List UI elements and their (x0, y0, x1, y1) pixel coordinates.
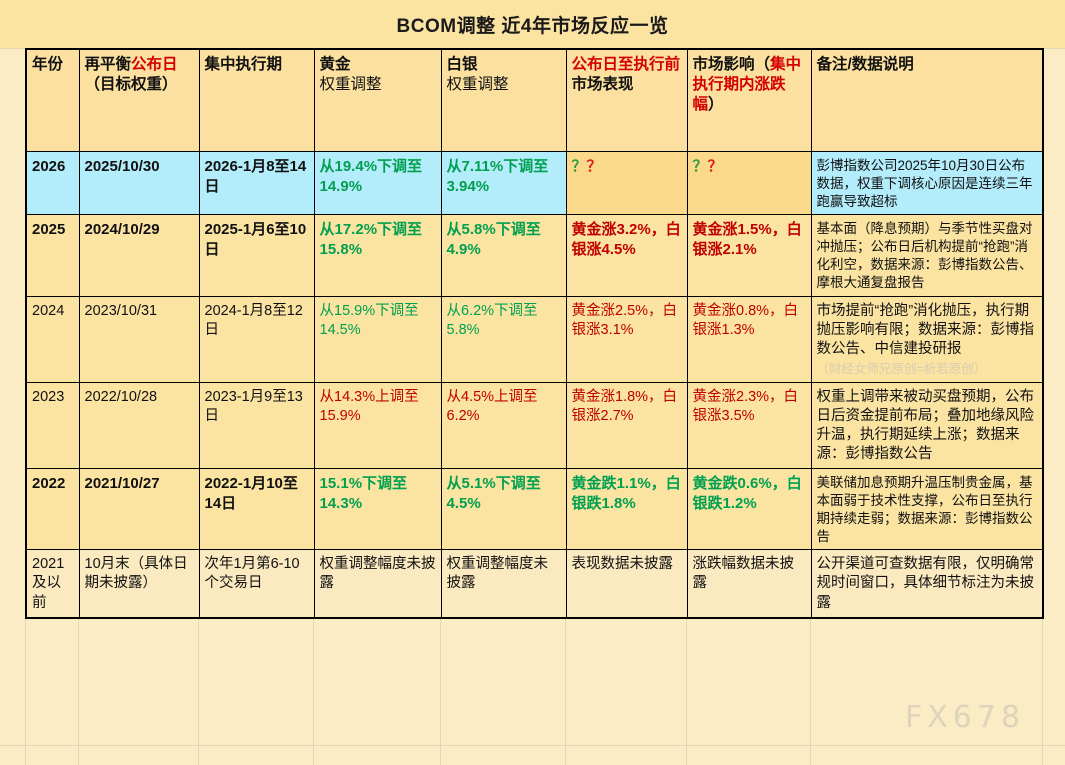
header-text: 公布日至执行前 (572, 56, 681, 73)
cell-remarks: 基本面（降息预期）与季节性买盘对冲抛压；公布日后机构提前“抢跑”消化利空，数据来… (811, 215, 1043, 296)
table-row[interactable]: 20242023/10/312024-1月8至12日从15.9%下调至14.5%… (26, 296, 1043, 382)
header-text: 白银 (447, 56, 478, 73)
cell-gold-weight: 从15.9%下调至14.5% (314, 296, 441, 382)
remarks-text: 市场提前“抢跑”消化抛压，执行期抛压影响有限；数据来源：彭博指数公告、中信建投研… (817, 303, 1035, 357)
cell-market-impact: 涨跌幅数据未披露 (687, 550, 811, 618)
value-text: 从14.3%上调至15.9% (320, 389, 419, 424)
value-text: 从4.5%上调至6.2% (447, 389, 538, 424)
cell-pre-exec-performance: 黄金涨1.8%，白银涨2.7% (566, 382, 687, 469)
header-text: 年份 (32, 56, 63, 73)
question-mark-red: ？ (587, 158, 602, 175)
header-text: 市场表现 (572, 76, 634, 93)
value-text: 从17.2%下调至15.8% (320, 221, 423, 258)
header-text: 市场影响（ (693, 56, 771, 73)
cell-silver-weight: 权重调整幅度未披露 (441, 550, 566, 618)
column-header-announce-date[interactable]: 再平衡公布日（目标权重） (79, 49, 199, 152)
value-text: 从19.4%下调至14.9% (320, 158, 423, 195)
value-text: 黄金涨1.5%，白银涨2.1% (693, 221, 802, 258)
table-row[interactable]: 2021及以前10月末（具体日期未披露）次年1月第6-10个交易日权重调整幅度未… (26, 550, 1043, 618)
cell-execution-window: 2025-1月6至10日 (199, 215, 314, 296)
cell-market-impact: 黄金涨2.3%，白银涨3.5% (687, 382, 811, 469)
cell-year: 2026 (26, 152, 79, 215)
cell-market-impact: 黄金跌0.6%，白银跌1.2% (687, 469, 811, 550)
value-text: 从7.11%下调至3.94% (447, 158, 549, 195)
cell-silver-weight: 从7.11%下调至3.94% (441, 152, 566, 215)
question-mark-red: ？ (708, 158, 723, 175)
cell-silver-weight: 从5.1%下调至4.5% (441, 469, 566, 550)
table-row[interactable]: 20232022/10/282023-1月9至13日从14.3%上调至15.9%… (26, 382, 1043, 469)
cell-year: 2025 (26, 215, 79, 296)
cell-execution-window: 2024-1月8至12日 (199, 296, 314, 382)
cell-announce-date: 2025/10/30 (79, 152, 199, 215)
cell-pre-exec-performance: 黄金涨3.2%，白银涨4.5% (566, 215, 687, 296)
cell-pre-exec-performance: 黄金跌1.1%，白银跌1.8% (566, 469, 687, 550)
column-header-execution-window[interactable]: 集中执行期 (199, 49, 314, 152)
market-reaction-table: 年份再平衡公布日（目标权重）集中执行期黄金权重调整白银权重调整公布日至执行前市场… (25, 48, 1044, 619)
remarks-text: 公开渠道可查数据有限，仅明确常规时间窗口，具体细节标注为未披露 (817, 556, 1035, 610)
header-text: ） (708, 96, 724, 113)
value-text: 从6.2%下调至5.8% (447, 303, 538, 338)
cell-gold-weight: 从14.3%上调至15.9% (314, 382, 441, 469)
cell-gold-weight: 权重调整幅度未披露 (314, 550, 441, 618)
cell-announce-date: 2024/10/29 (79, 215, 199, 296)
cell-announce-date: 2023/10/31 (79, 296, 199, 382)
column-header-remarks[interactable]: 备注/数据说明 (811, 49, 1043, 152)
cell-year: 2022 (26, 469, 79, 550)
value-text: 黄金跌0.6%，白银跌1.2% (693, 475, 802, 512)
cell-execution-window: 2023-1月9至13日 (199, 382, 314, 469)
cell-year: 2024 (26, 296, 79, 382)
cell-remarks: 美联储加息预期升温压制贵金属，基本面弱于技术性支撑，公布日至执行期持续走弱；数据… (811, 469, 1043, 550)
value-text: 黄金涨2.5%，白银涨3.1% (572, 303, 678, 338)
cell-silver-weight: 从4.5%上调至6.2% (441, 382, 566, 469)
header-text: 备注/数据说明 (817, 56, 914, 73)
cell-market-impact: ？？ (687, 152, 811, 215)
header-text: 权重调整 (447, 76, 509, 93)
cell-execution-window: 次年1月第6-10个交易日 (199, 550, 314, 618)
cell-gold-weight: 从19.4%下调至14.9% (314, 152, 441, 215)
cell-pre-exec-performance: 黄金涨2.5%，白银涨3.1% (566, 296, 687, 382)
cell-silver-weight: 从6.2%下调至5.8% (441, 296, 566, 382)
column-header-pre-exec-perf[interactable]: 公布日至执行前市场表现 (566, 49, 687, 152)
value-text: 从5.8%下调至4.9% (447, 221, 541, 258)
column-header-market-impact[interactable]: 市场影响（集中执行期内涨跌幅） (687, 49, 811, 152)
value-text: 黄金涨3.2%，白银涨4.5% (572, 221, 681, 258)
remarks-text: 权重上调带来被动买盘预期，公布日后资金提前布局；叠加地缘风险升温，执行期延续上涨… (817, 389, 1035, 462)
header-text: 权重调整 (320, 76, 382, 93)
cell-announce-date: 2022/10/28 (79, 382, 199, 469)
cell-market-impact: 黄金涨0.8%，白银涨1.3% (687, 296, 811, 382)
value-text: 15.1%下调至14.3% (320, 475, 408, 512)
table-header-row: 年份再平衡公布日（目标权重）集中执行期黄金权重调整白银权重调整公布日至执行前市场… (26, 49, 1043, 152)
value-text: 黄金涨1.8%，白银涨2.7% (572, 389, 678, 424)
cell-pre-exec-performance: ？？ (566, 152, 687, 215)
page-title: BCOM调整 近4年市场反应一览 (397, 11, 669, 38)
cell-remarks: 市场提前“抢跑”消化抛压，执行期抛压影响有限；数据来源：彭博指数公告、中信建投研… (811, 296, 1043, 382)
remarks-text: 彭博指数公司2025年10月30日公布数据，权重下调核心原因是连续三年跑赢导致超… (817, 158, 1033, 209)
value-text: 从5.1%下调至4.5% (447, 475, 541, 512)
cell-year: 2023 (26, 382, 79, 469)
value-text: 从15.9%下调至14.5% (320, 303, 419, 338)
column-header-silver-weight[interactable]: 白银权重调整 (441, 49, 566, 152)
cell-gold-weight: 从17.2%下调至15.8% (314, 215, 441, 296)
cell-announce-date: 2021/10/27 (79, 469, 199, 550)
header-text: 集中执行期 (205, 56, 283, 73)
cell-execution-window: 2026-1月8至14日 (199, 152, 314, 215)
cell-execution-window: 2022-1月10至14日 (199, 469, 314, 550)
cell-announce-date: 10月末（具体日期未披露） (79, 550, 199, 618)
value-text: 黄金涨2.3%，白银涨3.5% (693, 389, 799, 424)
table-row[interactable]: 20222021/10/272022-1月10至14日15.1%下调至14.3%… (26, 469, 1043, 550)
market-reaction-table-wrap: 年份再平衡公布日（目标权重）集中执行期黄金权重调整白银权重调整公布日至执行前市场… (25, 48, 1044, 619)
value-text: 黄金跌1.1%，白银跌1.8% (572, 475, 681, 512)
cell-pre-exec-performance: 表现数据未披露 (566, 550, 687, 618)
table-row[interactable]: 20252024/10/292025-1月6至10日从17.2%下调至15.8%… (26, 215, 1043, 296)
header-text: （目标权重） (85, 76, 178, 93)
question-mark-green: ？ (693, 158, 708, 175)
cell-year: 2021及以前 (26, 550, 79, 618)
column-header-year[interactable]: 年份 (26, 49, 79, 152)
cell-gold-weight: 15.1%下调至14.3% (314, 469, 441, 550)
table-body: 20262025/10/302026-1月8至14日从19.4%下调至14.9%… (26, 152, 1043, 618)
inline-watermark: （财经女师兄原创=析若原创） (817, 361, 1039, 378)
cell-market-impact: 黄金涨1.5%，白银涨2.1% (687, 215, 811, 296)
remarks-text: 美联储加息预期升温压制贵金属，基本面弱于技术性支撑，公布日至执行期持续走弱；数据… (817, 475, 1033, 543)
table-row[interactable]: 20262025/10/302026-1月8至14日从19.4%下调至14.9%… (26, 152, 1043, 215)
question-mark-green: ？ (572, 158, 587, 175)
cell-remarks: 权重上调带来被动买盘预期，公布日后资金提前布局；叠加地缘风险升温，执行期延续上涨… (811, 382, 1043, 469)
cell-remarks: 公开渠道可查数据有限，仅明确常规时间窗口，具体细节标注为未披露 (811, 550, 1043, 618)
header-text: 黄金 (320, 56, 351, 73)
header-text: 再平衡 (85, 56, 132, 73)
value-text: 黄金涨0.8%，白银涨1.3% (693, 303, 799, 338)
column-header-gold-weight[interactable]: 黄金权重调整 (314, 49, 441, 152)
cell-remarks: 彭博指数公司2025年10月30日公布数据，权重下调核心原因是连续三年跑赢导致超… (811, 152, 1043, 215)
header-text: 公布日 (131, 56, 178, 73)
remarks-text: 基本面（降息预期）与季节性买盘对冲抛压；公布日后机构提前“抢跑”消化利空，数据来… (817, 221, 1033, 289)
title-band: BCOM调整 近4年市场反应一览 (0, 0, 1065, 48)
cell-silver-weight: 从5.8%下调至4.9% (441, 215, 566, 296)
